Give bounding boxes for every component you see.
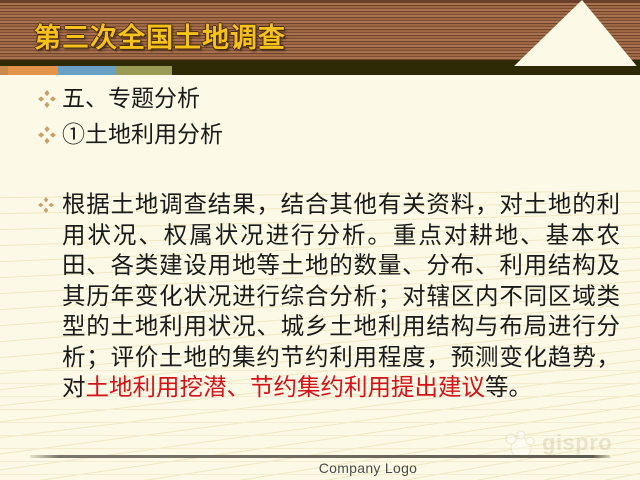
segment-orange [8, 66, 58, 75]
header-corner-wedge [510, 0, 640, 70]
bullet-item-1-label: 五、专题分析 [62, 84, 200, 113]
paragraph-text: 根据土地调查结果，结合其他有关资料，对土地的利用状况、权属状况进行分析。重点对耕… [62, 190, 620, 404]
footer-divider [30, 455, 610, 458]
bullet-item-2: ①土地利用分析 [38, 120, 223, 149]
bullet-item-2-label: ①土地利用分析 [62, 120, 223, 149]
diamond-cluster-icon [38, 126, 62, 144]
bullet-item-1: 五、专题分析 [38, 84, 200, 113]
gispro-mark-icon [504, 429, 542, 464]
paragraph-plain-after: 等。 [485, 375, 532, 401]
diamond-cluster-icon [38, 90, 62, 108]
diamond-cluster-icon [38, 197, 62, 213]
segment-dark-olive [172, 66, 640, 75]
segment-start-notch [0, 66, 8, 75]
company-logo-placeholder: Company Logo [0, 460, 640, 476]
gispro-watermark-text: gispro [542, 430, 612, 456]
paragraph-highlight: 土地利用挖潜、节约集约利用提出建议 [86, 375, 486, 401]
slide-body: 五、专题分析 ①土地利用分析 [0, 70, 640, 430]
presentation-slide: 第三次全国土地调查 五、专题分析 [0, 0, 640, 480]
slide-title: 第三次全国土地调查 [34, 16, 286, 55]
segment-olive [115, 66, 172, 75]
color-segment-bar [0, 66, 640, 75]
paragraph-block: 根据土地调查结果，结合其他有关资料，对土地的利用状况、权属状况进行分析。重点对耕… [38, 190, 620, 404]
paragraph-plain-before: 根据土地调查结果，结合其他有关资料，对土地的利用状况、权属状况进行分析。重点对耕… [62, 192, 620, 401]
company-logo-label: Company Logo [223, 460, 418, 476]
segment-blue [58, 66, 115, 75]
